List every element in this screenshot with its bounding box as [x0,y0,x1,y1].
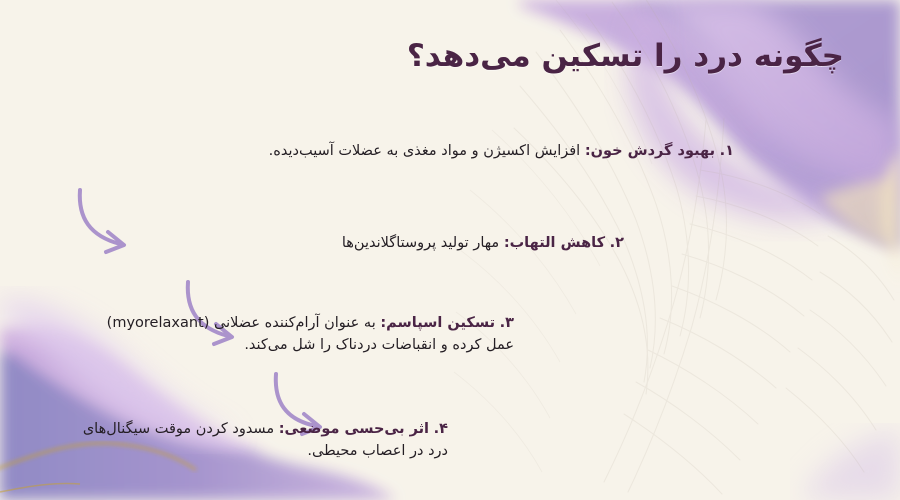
step-1-text: ۱. بهبود گردش خون: افزایش اکسیژن و مواد … [174,140,734,162]
slide-canvas: چگونه درد را تسکین می‌دهد؟ [0,0,900,500]
step-3-number: ۳. [500,315,514,331]
step-4-number: ۴. [434,421,448,437]
step-2-number: ۲. [610,235,624,251]
step-4-heading: اثر بی‌حسی موضعی: [279,421,429,437]
page-title: چگونه درد را تسکین می‌دهد؟ [407,38,844,74]
step-1-body: افزایش اکسیژن و مواد مغذی به عضلات آسیب‌… [269,143,585,159]
step-1-number: ۱. [720,143,734,159]
step-3-body-before: به عنوان آرام‌کننده عضلانی ( [204,315,381,331]
step-3-latin-term: myorelaxant [112,315,203,331]
step-1-heading: بهبود گردش خون: [585,143,715,159]
step-2-text: ۲. کاهش التهاب: مهار تولید پروستاگلاندین… [134,232,624,254]
step-3-heading: تسکین اسپاسم: [380,315,495,331]
step-2-heading: کاهش التهاب: [504,235,605,251]
step-3-text: ۳. تسکین اسپاسم: به عنوان آرام‌کننده عضل… [94,312,514,357]
step-4-text: ۴. اثر بی‌حسی موضعی: مسدود کردن موقت سیگ… [68,418,448,463]
step-2-body: مهار تولید پروستاگلاندین‌ها [342,235,504,251]
